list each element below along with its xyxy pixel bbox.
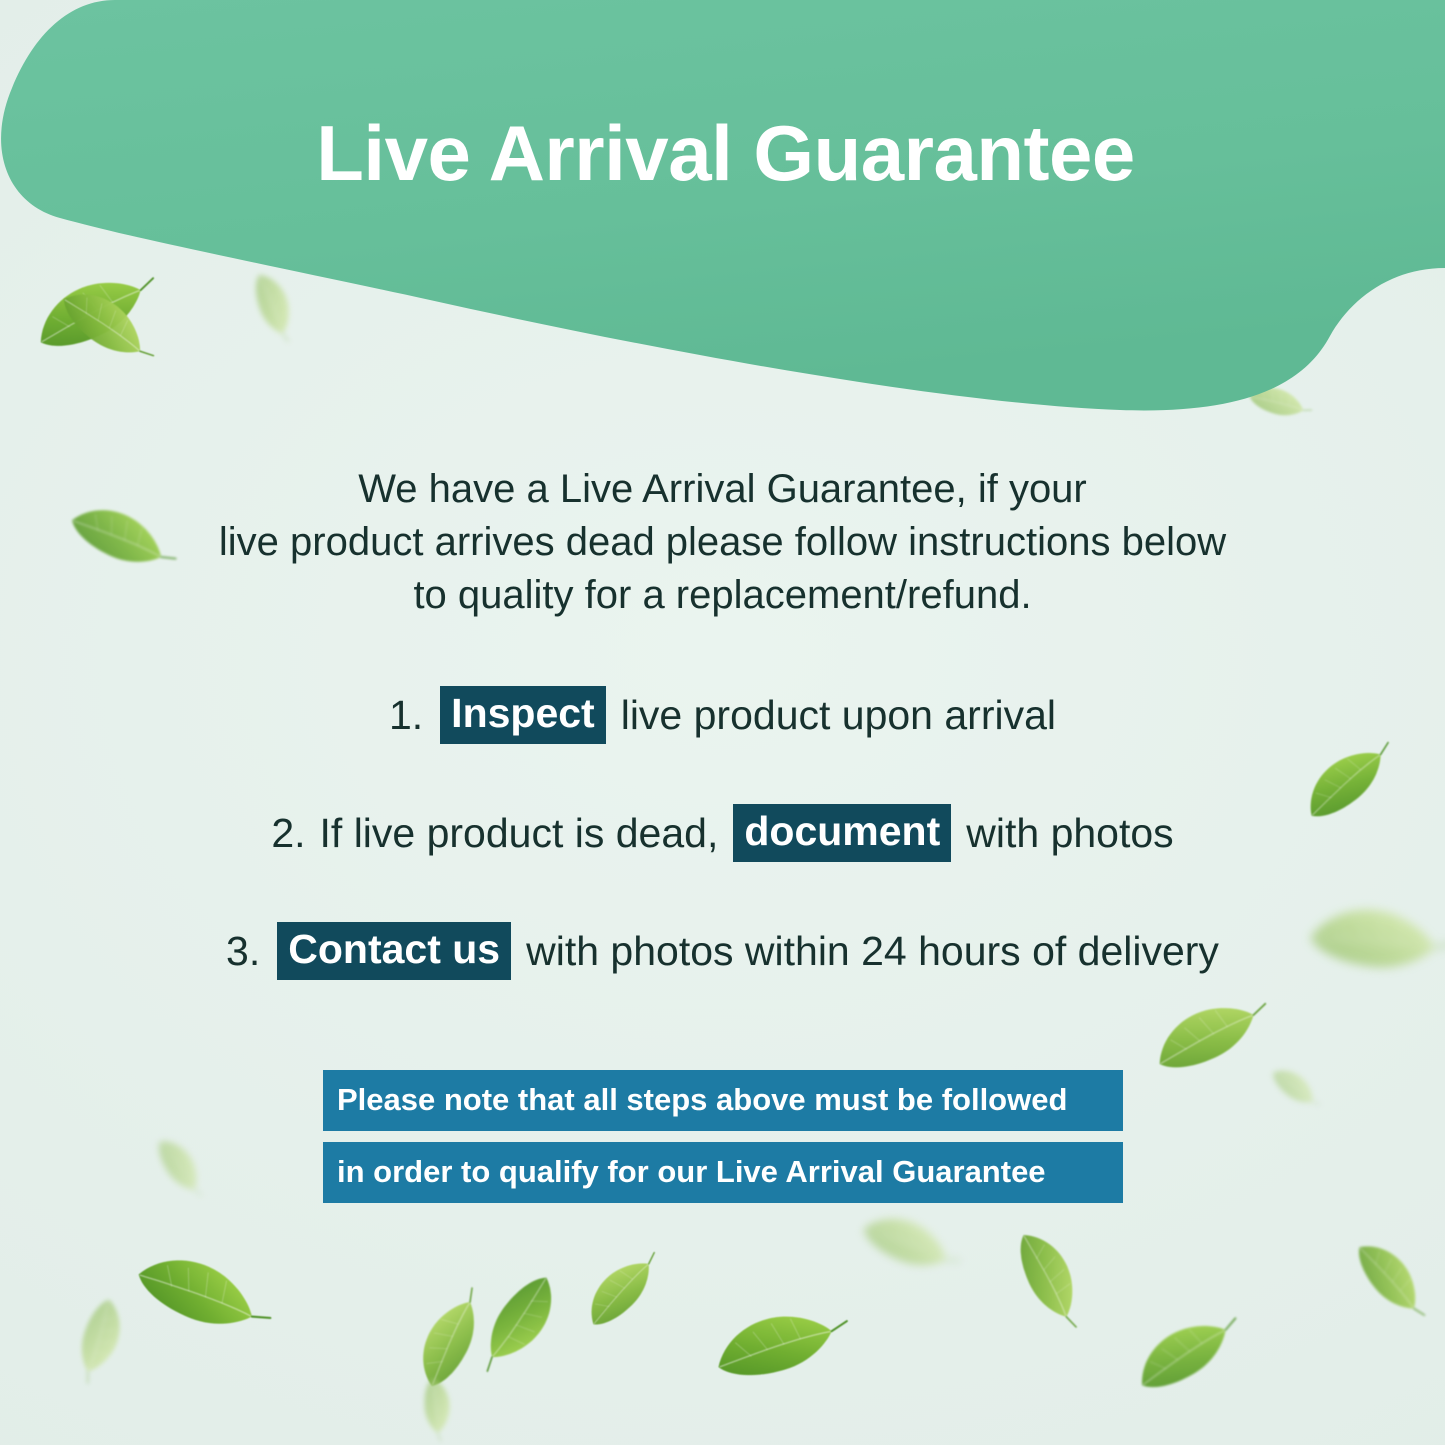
- live-arrival-guarantee-poster: Live Arrival Guarantee We have a Live Ar…: [0, 0, 1445, 1445]
- intro-line-2: live product arrives dead please follow …: [0, 516, 1445, 569]
- step-item-3: 3. Contact us with photos within 24 hour…: [0, 921, 1445, 981]
- page-title: Live Arrival Guarantee: [0, 114, 1445, 192]
- step-text-after-3: with photos within 24 hours of delivery: [526, 931, 1219, 972]
- leaf-icon: [1266, 1060, 1321, 1112]
- step-text-before-2: If live product is dead,: [320, 813, 719, 854]
- leaf-icon: [70, 1294, 131, 1380]
- step-highlight-1: Inspect: [440, 686, 606, 744]
- leaf-icon: [855, 1203, 957, 1280]
- note-block: Please note that all steps above must be…: [323, 1070, 1123, 1203]
- step-number-2: 2.: [271, 813, 305, 854]
- leaf-icon: [1125, 1307, 1240, 1401]
- step-number-1: 1.: [389, 695, 423, 736]
- note-bar-line-2: in order to qualify for our Live Arrival…: [323, 1142, 1123, 1203]
- header-banner-shape: [0, 0, 1445, 430]
- leaf-icon: [150, 1131, 207, 1199]
- step-item-2: 2. If live product is dead, document wit…: [0, 803, 1445, 863]
- intro-line-3: to quality for a replacement/refund.: [0, 569, 1445, 622]
- leaf-icon: [707, 1302, 841, 1388]
- step-number-3: 3.: [226, 931, 260, 972]
- leaf-icon: [473, 1266, 572, 1374]
- step-text-after-2: with photos: [966, 813, 1173, 854]
- step-text-after-1: live product upon arrival: [621, 695, 1056, 736]
- leaf-icon: [406, 1290, 491, 1396]
- steps-list: 1. Inspect live product upon arrival 2. …: [0, 685, 1445, 981]
- leaf-icon: [1144, 990, 1266, 1082]
- step-highlight-3: Contact us: [277, 922, 511, 980]
- leaf-icon: [574, 1248, 664, 1337]
- leaf-icon: [1008, 1221, 1088, 1327]
- leaf-icon: [1347, 1230, 1431, 1322]
- note-bar-line-1: Please note that all steps above must be…: [323, 1070, 1123, 1131]
- intro-paragraph: We have a Live Arrival Guarantee, if you…: [0, 463, 1445, 621]
- step-item-1: 1. Inspect live product upon arrival: [0, 685, 1445, 745]
- leaf-icon: [127, 1239, 266, 1344]
- intro-line-1: We have a Live Arrival Guarantee, if you…: [0, 463, 1445, 516]
- step-highlight-2: document: [733, 804, 951, 862]
- leaf-icon: [422, 1376, 451, 1435]
